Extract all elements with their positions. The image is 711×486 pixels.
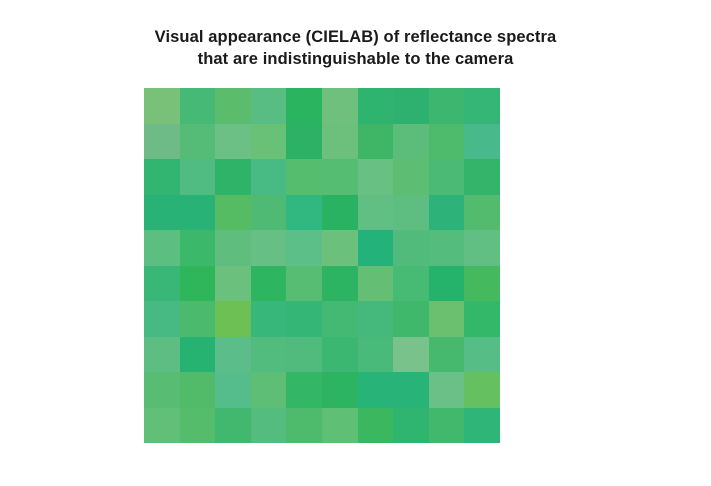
- color-swatch: [358, 195, 394, 231]
- color-swatch: [322, 337, 358, 373]
- color-swatch: [144, 301, 180, 337]
- color-swatch: [180, 408, 216, 444]
- color-swatch: [286, 266, 322, 302]
- color-swatch: [322, 195, 358, 231]
- color-swatch: [464, 124, 500, 160]
- color-swatch: [251, 124, 287, 160]
- color-swatch: [286, 408, 322, 444]
- color-swatch: [251, 230, 287, 266]
- color-swatch: [215, 372, 251, 408]
- color-swatch: [180, 266, 216, 302]
- color-swatch: [464, 266, 500, 302]
- cielab-swatch-grid: [144, 88, 500, 443]
- color-swatch: [393, 408, 429, 444]
- color-swatch: [144, 195, 180, 231]
- color-swatch: [144, 372, 180, 408]
- color-swatch: [429, 337, 465, 373]
- color-swatch: [429, 159, 465, 195]
- color-swatch: [358, 230, 394, 266]
- chart-title-line-2: that are indistinguishable to the camera: [0, 48, 711, 70]
- color-swatch: [464, 337, 500, 373]
- color-swatch: [251, 195, 287, 231]
- color-swatch: [393, 88, 429, 124]
- color-swatch: [393, 337, 429, 373]
- color-swatch: [322, 301, 358, 337]
- color-swatch: [144, 230, 180, 266]
- color-swatch: [251, 301, 287, 337]
- color-swatch: [180, 301, 216, 337]
- color-swatch: [464, 372, 500, 408]
- color-swatch: [393, 195, 429, 231]
- color-swatch: [286, 337, 322, 373]
- color-swatch: [180, 124, 216, 160]
- color-swatch: [358, 124, 394, 160]
- color-swatch: [180, 337, 216, 373]
- color-swatch: [251, 266, 287, 302]
- color-swatch: [393, 230, 429, 266]
- color-swatch: [393, 372, 429, 408]
- color-swatch: [180, 372, 216, 408]
- color-swatch: [393, 124, 429, 160]
- color-swatch: [358, 372, 394, 408]
- color-swatch: [215, 195, 251, 231]
- color-swatch: [215, 266, 251, 302]
- color-swatch: [144, 159, 180, 195]
- color-swatch: [464, 88, 500, 124]
- color-swatch: [215, 337, 251, 373]
- color-swatch: [286, 124, 322, 160]
- color-swatch: [358, 337, 394, 373]
- color-swatch: [358, 88, 394, 124]
- figure-canvas: Visual appearance (CIELAB) of reflectanc…: [0, 0, 711, 486]
- color-swatch: [322, 88, 358, 124]
- color-swatch: [251, 88, 287, 124]
- color-swatch: [251, 408, 287, 444]
- chart-title: Visual appearance (CIELAB) of reflectanc…: [0, 26, 711, 70]
- color-swatch: [464, 230, 500, 266]
- color-swatch: [322, 372, 358, 408]
- color-swatch: [429, 124, 465, 160]
- color-swatch: [286, 372, 322, 408]
- color-swatch: [144, 88, 180, 124]
- color-swatch: [393, 266, 429, 302]
- color-swatch: [464, 301, 500, 337]
- color-swatch: [251, 337, 287, 373]
- color-swatch: [464, 159, 500, 195]
- color-swatch: [215, 124, 251, 160]
- color-swatch: [429, 301, 465, 337]
- color-swatch: [215, 88, 251, 124]
- color-swatch: [429, 88, 465, 124]
- color-swatch: [180, 195, 216, 231]
- color-swatch: [322, 230, 358, 266]
- color-swatch: [393, 159, 429, 195]
- color-swatch: [322, 266, 358, 302]
- color-swatch: [286, 88, 322, 124]
- color-swatch: [322, 159, 358, 195]
- color-swatch: [251, 372, 287, 408]
- color-swatch: [429, 266, 465, 302]
- color-swatch: [429, 408, 465, 444]
- color-swatch: [286, 195, 322, 231]
- color-swatch: [429, 230, 465, 266]
- color-swatch: [358, 159, 394, 195]
- color-swatch: [144, 337, 180, 373]
- color-swatch: [358, 408, 394, 444]
- chart-title-line-1: Visual appearance (CIELAB) of reflectanc…: [0, 26, 711, 48]
- color-swatch: [215, 230, 251, 266]
- color-swatch: [358, 266, 394, 302]
- color-swatch: [215, 159, 251, 195]
- color-swatch: [322, 408, 358, 444]
- color-swatch: [180, 159, 216, 195]
- color-swatch: [144, 124, 180, 160]
- color-swatch: [429, 372, 465, 408]
- color-swatch: [393, 301, 429, 337]
- color-swatch: [322, 124, 358, 160]
- color-swatch: [180, 230, 216, 266]
- color-swatch: [215, 301, 251, 337]
- color-swatch: [144, 408, 180, 444]
- color-swatch: [286, 230, 322, 266]
- color-swatch: [286, 159, 322, 195]
- color-swatch: [251, 159, 287, 195]
- color-swatch: [429, 195, 465, 231]
- color-swatch: [144, 266, 180, 302]
- color-swatch: [180, 88, 216, 124]
- color-swatch: [358, 301, 394, 337]
- color-swatch: [464, 195, 500, 231]
- color-swatch: [286, 301, 322, 337]
- color-swatch: [215, 408, 251, 444]
- color-swatch: [464, 408, 500, 444]
